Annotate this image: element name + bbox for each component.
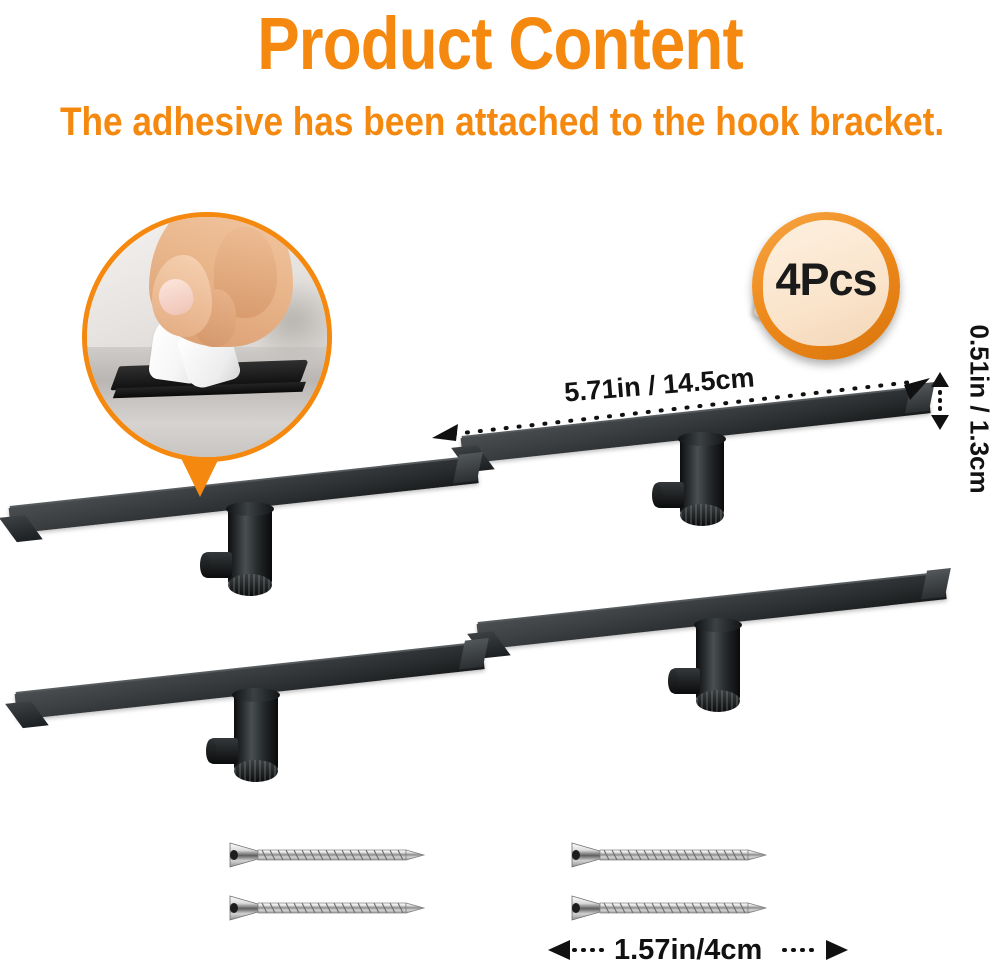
bracket-top-left <box>10 462 490 612</box>
bracket-post-cap <box>696 690 740 712</box>
bracket-post-collar <box>694 618 742 632</box>
bracket-post-cap <box>228 574 272 596</box>
bracket-knob-face <box>652 483 662 507</box>
screw-right-2 <box>570 893 770 923</box>
bracket-thickness-dimension: 0.51in / 1.3cm <box>952 330 996 480</box>
screw-left-2 <box>228 893 428 923</box>
thickness-arrow-icon <box>930 372 950 430</box>
bracket-right-tip <box>921 568 951 599</box>
product-content-infographic: Product Content The adhesive has been at… <box>0 0 1000 975</box>
bracket-bottom-right <box>478 578 958 728</box>
page-title: Product Content <box>70 2 930 86</box>
badge-inner: 4Pcs <box>763 220 889 346</box>
bracket-post-cap <box>234 760 278 782</box>
screw-length-label: 1.57in/4cm <box>614 934 762 967</box>
bracket-post-collar <box>232 688 280 702</box>
badge-label: 4Pcs <box>775 254 876 306</box>
bracket-bottom-left <box>16 648 496 798</box>
bracket-post-collar <box>226 502 274 516</box>
screw-length-dimension: 1.57in/4cm <box>548 932 848 974</box>
inset-circle-frame <box>82 212 332 462</box>
bracket-knob-face <box>668 669 678 693</box>
bracket-right-tip <box>453 452 483 483</box>
bracket-post-cap <box>680 504 724 526</box>
bracket-knob-face <box>200 553 210 577</box>
page-subtitle: The adhesive has been attached to the ho… <box>60 98 940 146</box>
adhesive-peel-photo <box>82 212 332 462</box>
screw-right-1 <box>570 840 770 870</box>
bracket-knob-face <box>206 739 216 763</box>
bracket-right-tip <box>459 638 489 669</box>
quantity-badge: 4Pcs <box>752 212 900 360</box>
bracket-thickness-label: 0.51in / 1.3cm <box>964 325 995 455</box>
screw-left-1 <box>228 840 428 870</box>
